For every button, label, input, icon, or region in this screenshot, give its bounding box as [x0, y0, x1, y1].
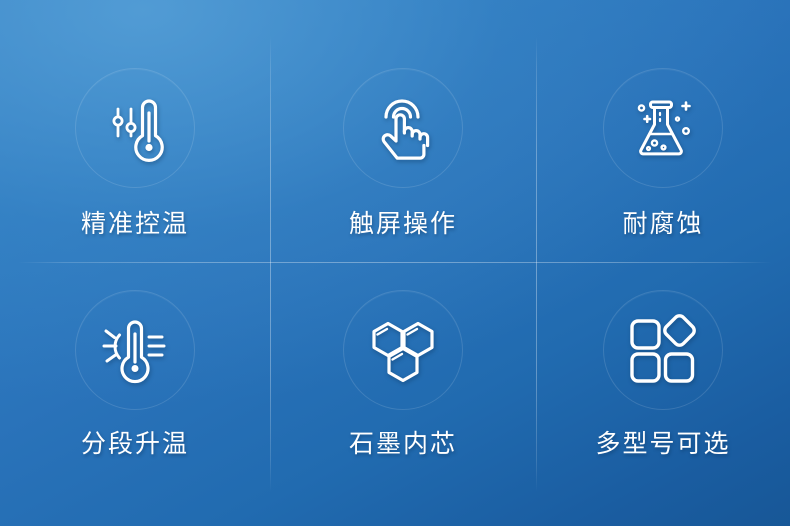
icon-ring: [343, 68, 463, 188]
feature-cell-graphite-core[interactable]: 石墨内芯: [270, 262, 536, 526]
feature-label: 精准控温: [81, 212, 189, 237]
feature-cell-staged-heating[interactable]: 分段升温: [0, 262, 270, 526]
feature-banner: 精准控温: [0, 0, 790, 526]
feature-label: 多型号可选: [595, 432, 730, 457]
flask-icon: [624, 89, 702, 167]
feature-cell-touch-screen-operation[interactable]: 触屏操作: [270, 0, 536, 262]
feature-label: 耐腐蚀: [622, 212, 703, 237]
icon-ring: [603, 290, 723, 410]
feature-label: 分段升温: [81, 432, 189, 457]
icon-ring: [75, 68, 195, 188]
touch-hand-icon: [364, 89, 442, 167]
feature-cell-precise-temperature-control[interactable]: 精准控温: [0, 0, 270, 262]
four-tiles-icon: [624, 311, 702, 389]
icon-ring: [343, 290, 463, 410]
thermometer-rays-icon: [96, 311, 174, 389]
hexagon-honeycomb-icon: [364, 311, 442, 389]
feature-cell-corrosion-resistant[interactable]: 耐腐蚀: [536, 0, 790, 262]
feature-label: 石墨内芯: [349, 432, 457, 457]
thermometer-slider-icon: [96, 89, 174, 167]
feature-label: 触屏操作: [349, 212, 457, 237]
icon-ring: [75, 290, 195, 410]
feature-cell-multiple-models-available[interactable]: 多型号可选: [536, 262, 790, 526]
icon-ring: [603, 68, 723, 188]
feature-grid: 精准控温: [0, 0, 790, 526]
